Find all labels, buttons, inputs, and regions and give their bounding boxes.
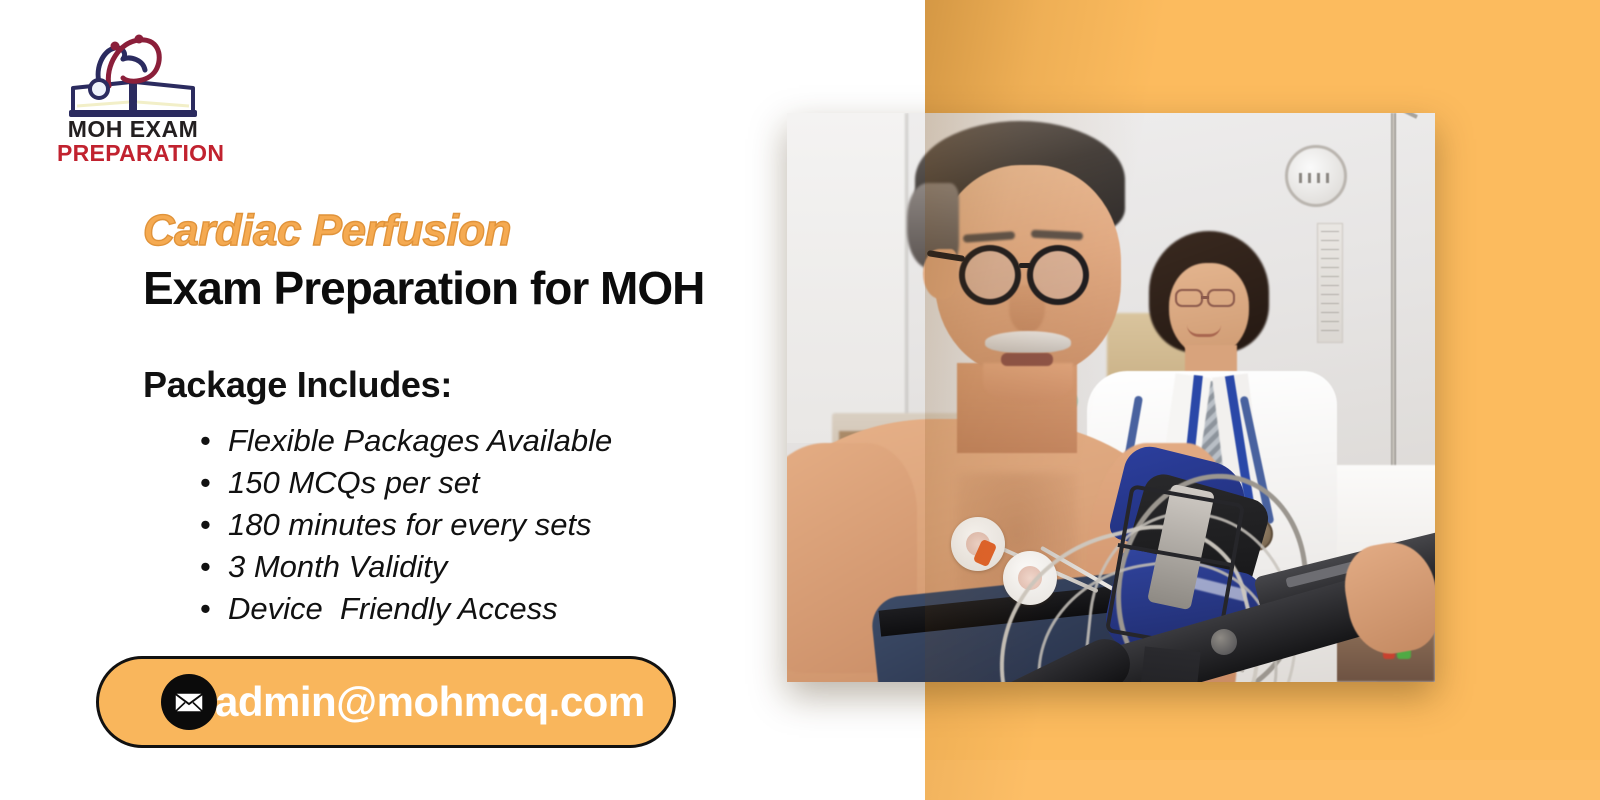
doctor-glasses-right	[1207, 289, 1235, 307]
email-address-label: admin@mohmcq.com	[215, 678, 645, 726]
list-item: Device Friendly Access	[200, 588, 612, 630]
wall-gauge-marks	[1321, 231, 1339, 335]
orange-bottom-strip	[925, 760, 1600, 800]
patient-chin	[983, 363, 1073, 403]
bike-stem	[1133, 646, 1200, 682]
list-item: Flexible Packages Available	[200, 420, 612, 462]
logo-text-primary: MOH EXAM	[57, 118, 209, 141]
package-includes-heading: Package Includes:	[143, 364, 452, 406]
patient-glasses-right	[1027, 245, 1089, 305]
logo-text-secondary: PREPARATION	[57, 142, 209, 165]
headline-eyebrow: Cardiac Perfusion	[143, 209, 511, 253]
package-feature-list: Flexible Packages Available 150 MCQs per…	[200, 420, 612, 630]
envelope-icon	[161, 674, 217, 730]
patient-glasses-bridge	[1019, 263, 1031, 268]
content-column: MOH EXAM PREPARATION Cardiac Perfusion E…	[0, 0, 925, 800]
doctor-glasses-bridge	[1201, 296, 1209, 299]
doctor-glasses-left	[1175, 289, 1203, 307]
list-item: 3 Month Validity	[200, 546, 612, 588]
promo-banner: MOH EXAM PREPARATION Cardiac Perfusion E…	[0, 0, 1600, 800]
patient-mouth	[1001, 353, 1053, 366]
email-cta-button[interactable]: admin@mohmcq.com	[96, 656, 676, 748]
clock-dial-marks	[1299, 173, 1333, 183]
patient-mustache	[985, 331, 1071, 353]
page-title: Exam Preparation for MOH	[143, 265, 704, 311]
doctor-face	[1169, 263, 1249, 357]
list-item: 150 MCQs per set	[200, 462, 612, 504]
brand-logo[interactable]: MOH EXAM PREPARATION	[57, 26, 209, 160]
list-item: 180 minutes for every sets	[200, 504, 612, 546]
bike-bolt	[1211, 629, 1237, 655]
patient-glasses-left	[959, 245, 1021, 305]
stethoscope-book-icon	[57, 26, 209, 118]
